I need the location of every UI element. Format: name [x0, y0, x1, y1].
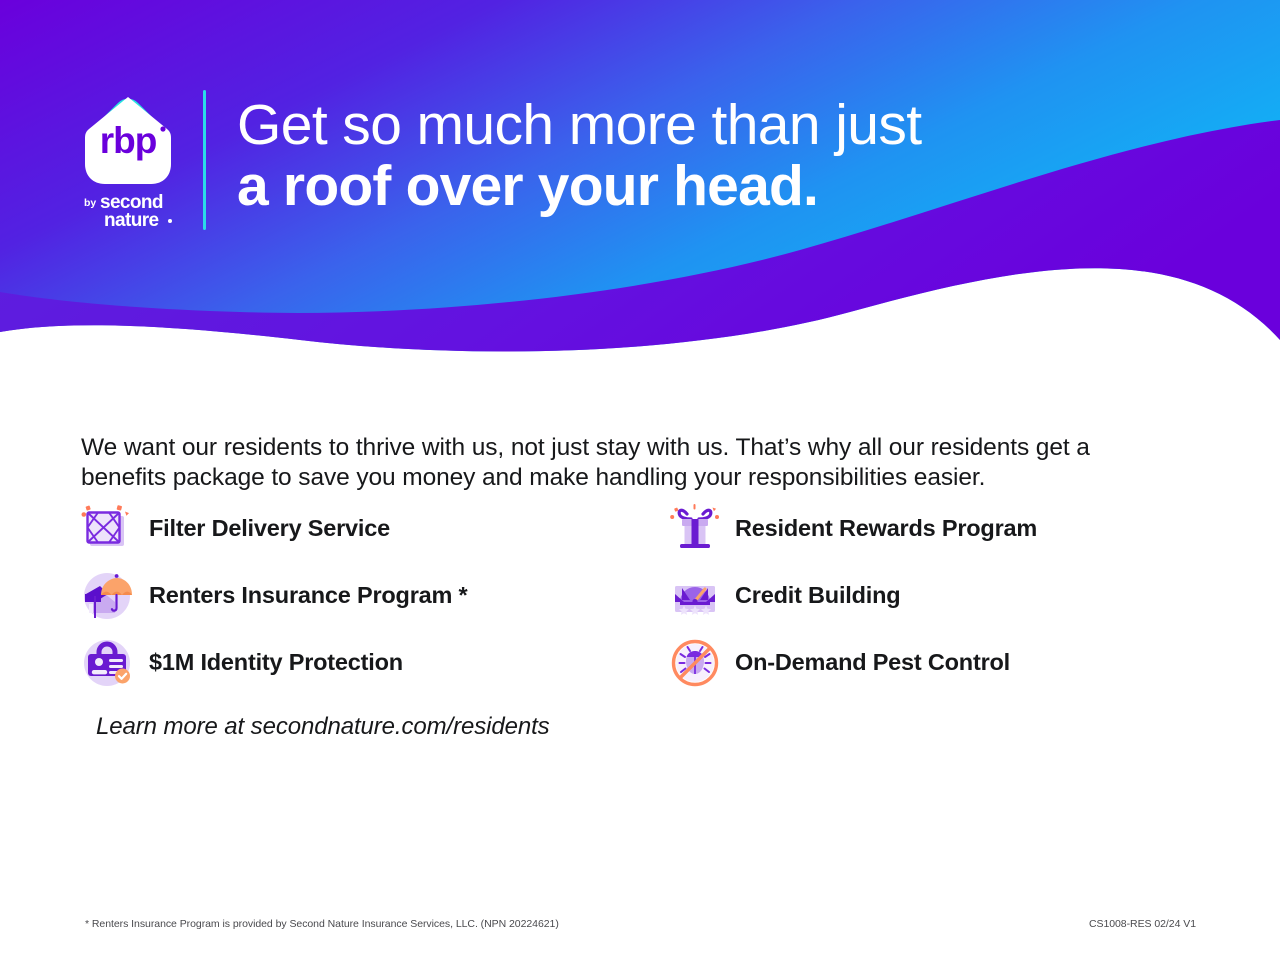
benefit-label: Renters Insurance Program * — [149, 582, 468, 609]
rbp-logo-mark: rbp — [75, 88, 181, 194]
benefit-item-resident-rewards: Resident Rewards Program — [669, 495, 1229, 562]
benefit-label: Resident Rewards Program — [735, 515, 1037, 542]
id-badge-lock-icon — [81, 637, 133, 689]
rbp-logo: rbp by second nature — [72, 88, 184, 228]
benefit-item-identity-protection: $1M Identity Protection — [81, 629, 641, 696]
benefit-item-credit-building: Credit Building — [669, 562, 1229, 629]
hero-headline: Get so much more than just a roof over y… — [237, 96, 1097, 216]
benefit-label: $1M Identity Protection — [149, 649, 403, 676]
intro-paragraph: We want our residents to thrive with us,… — [81, 433, 1171, 493]
svg-text:by: by — [84, 197, 96, 209]
svg-text:nature: nature — [104, 210, 159, 231]
headline-line-2: a roof over your head. — [237, 156, 1097, 216]
no-bug-icon — [669, 637, 721, 689]
gift-box-icon — [669, 503, 721, 555]
marketing-flyer: rbp by second nature Get so much more th… — [0, 0, 1280, 960]
footer-disclaimer: * Renters Insurance Program is provided … — [85, 918, 559, 930]
benefit-item-pest-control: On-Demand Pest Control — [669, 629, 1229, 696]
svg-text:rbp: rbp — [100, 120, 157, 161]
benefit-item-renters-insurance: Renters Insurance Program * — [81, 562, 641, 629]
hero-divider — [203, 90, 206, 230]
headline-line-1: Get so much more than just — [237, 96, 1097, 154]
air-filter-icon — [81, 503, 133, 555]
benefit-label: Filter Delivery Service — [149, 515, 390, 542]
footer-doc-code: CS1008-RES 02/24 V1 — [1089, 918, 1196, 930]
benefit-item-filter-delivery: Filter Delivery Service — [81, 495, 641, 562]
benefit-label: Credit Building — [735, 582, 900, 609]
credit-gauge-icon — [669, 570, 721, 622]
learn-more-text: Learn more at secondnature.com/residents — [96, 713, 550, 741]
benefit-label: On-Demand Pest Control — [735, 649, 1010, 676]
benefits-column-right: Resident Rewards Program — [669, 495, 1229, 696]
benefits-column-left: Filter Delivery Service — [81, 495, 641, 696]
umbrella-house-icon — [81, 570, 133, 622]
hero-banner: rbp by second nature Get so much more th… — [0, 0, 1280, 380]
